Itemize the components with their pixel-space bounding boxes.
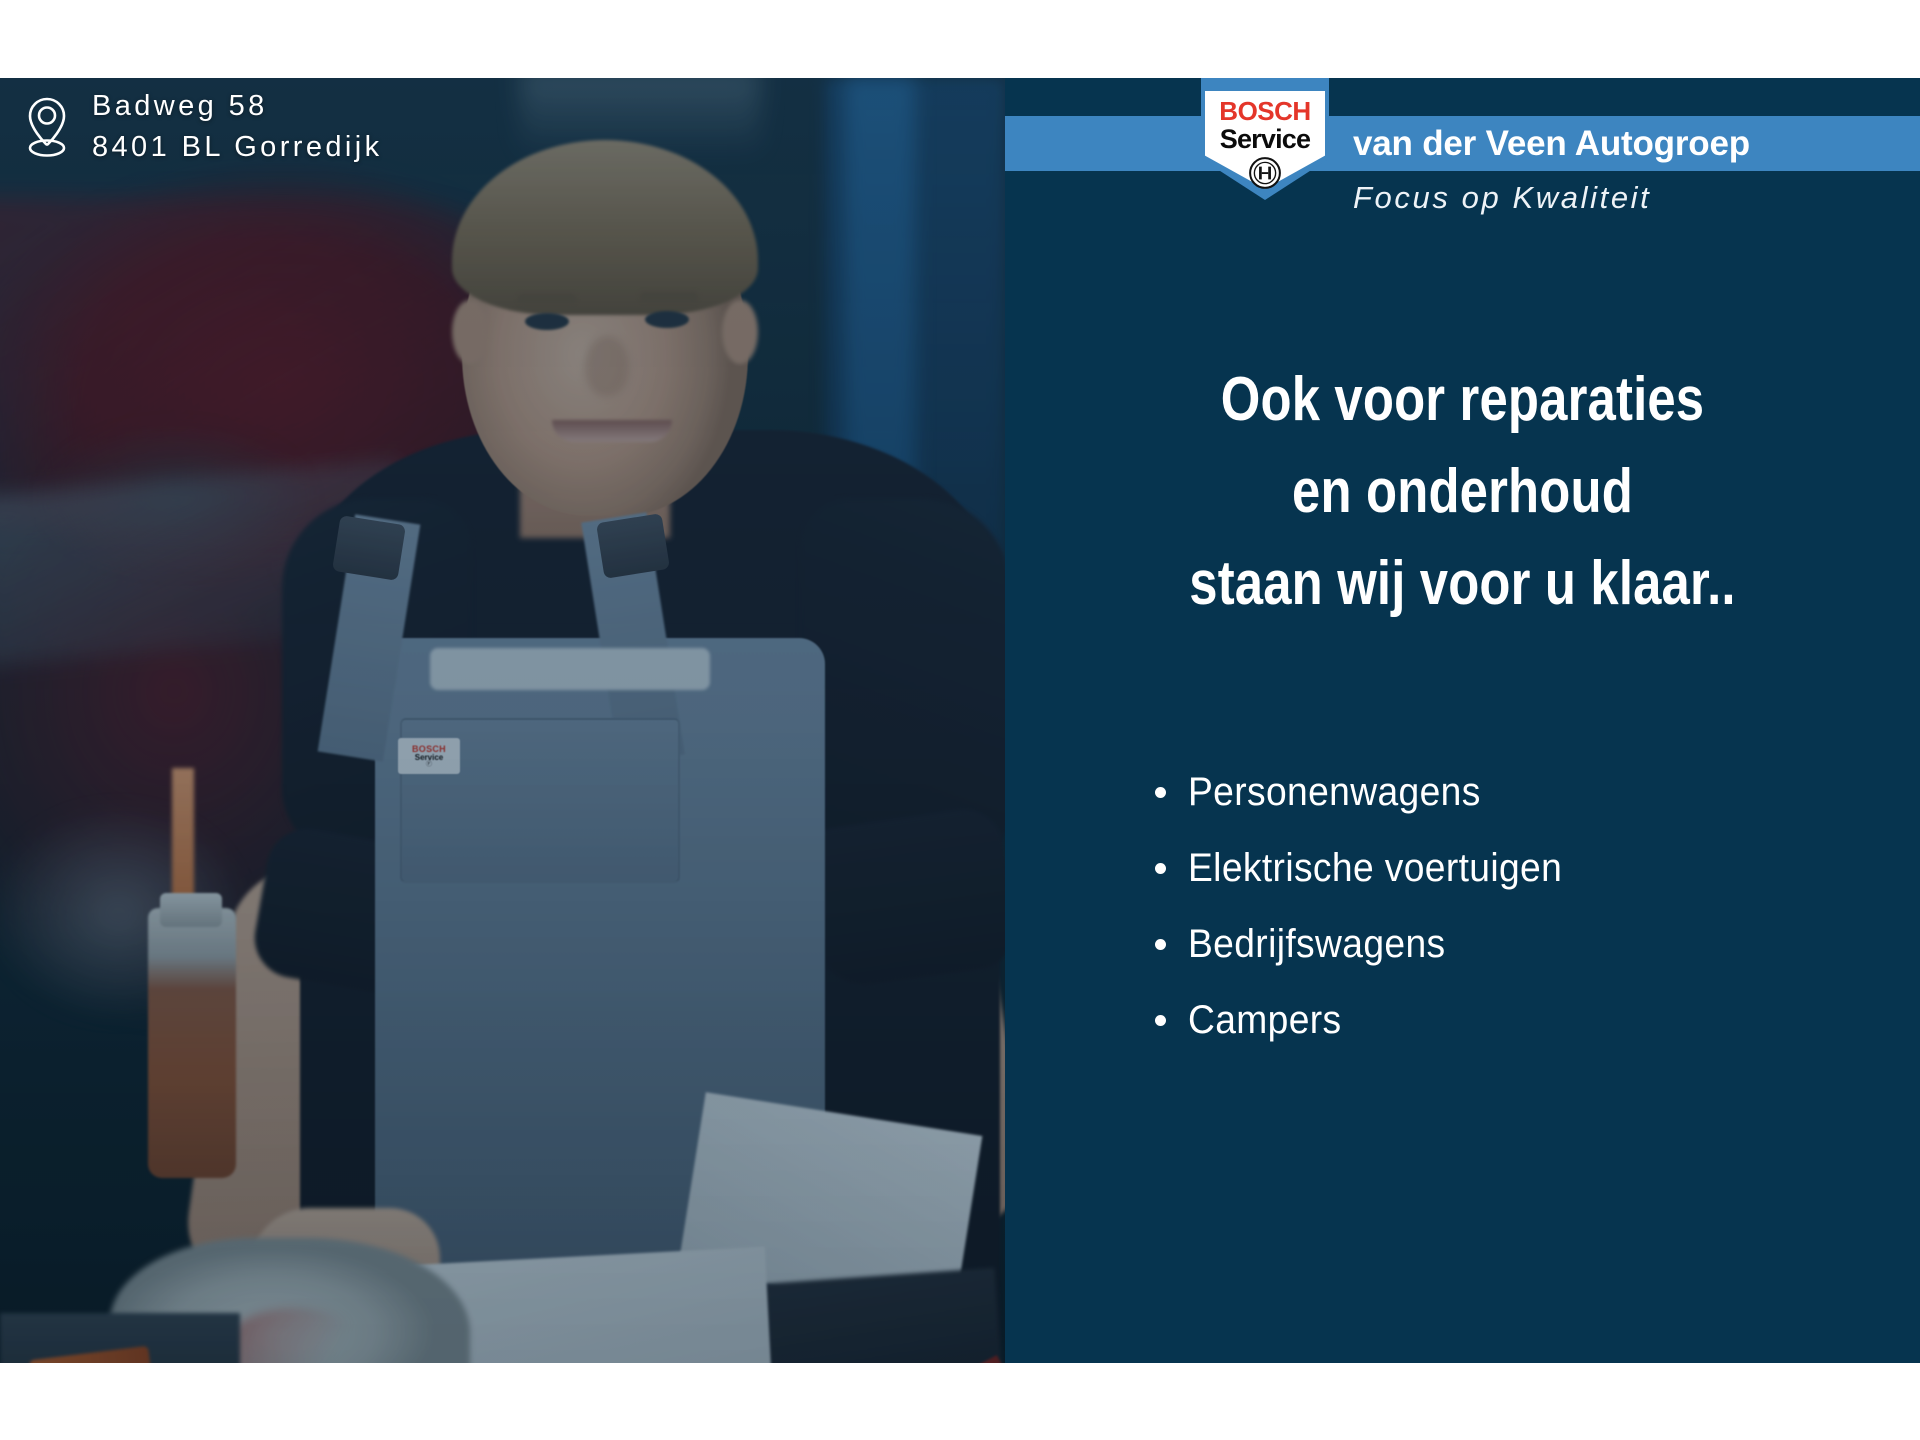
service-label: Bedrijfswagens xyxy=(1188,922,1445,967)
left-eye xyxy=(525,313,569,330)
oil-bottle xyxy=(148,908,236,1178)
nose xyxy=(585,336,629,396)
patch-emblem-text: Ⓕ xyxy=(426,762,432,768)
bosch-service-logo: BOSCH Service xyxy=(1201,78,1329,200)
address-line-1: Badweg 58 xyxy=(92,86,382,127)
advertisement-banner-page: BOSCH Service Ⓕ xyxy=(0,0,1920,1440)
list-item: Bedrijfswagens xyxy=(1155,906,1920,982)
list-item: Campers xyxy=(1155,982,1920,1058)
left-buckle xyxy=(332,515,406,581)
address-overlay: Badweg 58 8401 BL Gorredijk xyxy=(24,86,382,168)
banner: BOSCH Service Ⓕ xyxy=(0,78,1920,1363)
name-strip xyxy=(430,648,710,690)
badge-service-text: Service xyxy=(1220,125,1310,153)
badge-top-bar xyxy=(1201,78,1329,91)
left-ear xyxy=(452,300,488,364)
address-line-2: 8401 BL Gorredijk xyxy=(92,127,382,168)
right-sleeve xyxy=(800,805,1005,991)
company-tagline: Focus op Kwaliteit xyxy=(1353,178,1651,218)
left-eyebrow xyxy=(518,294,576,303)
service-label: Elektrische voertuigen xyxy=(1188,846,1562,891)
mouth xyxy=(552,420,672,442)
bottle-cap xyxy=(160,893,222,927)
bullet-dot-icon xyxy=(1155,939,1166,950)
bullet-dot-icon xyxy=(1155,787,1166,798)
right-ear xyxy=(722,300,758,364)
right-eye xyxy=(645,311,689,328)
bosch-service-patch: BOSCH Service Ⓕ xyxy=(398,738,460,774)
services-list: Personenwagens Elektrische voertuigen Be… xyxy=(1005,754,1920,1058)
headline-line-3: staan wij voor u klaar.. xyxy=(1087,538,1837,630)
headline-line-1: Ook voor reparaties xyxy=(1087,354,1837,446)
right-eyebrow xyxy=(640,292,698,301)
mechanic-photo: BOSCH Service Ⓕ xyxy=(0,78,1005,1363)
list-item: Elektrische voertuigen xyxy=(1155,830,1920,906)
info-panel: BOSCH Service van der Veen Autogroep Foc… xyxy=(1005,78,1920,1363)
bullet-dot-icon xyxy=(1155,1015,1166,1026)
headline-line-2: en onderhoud xyxy=(1087,446,1837,538)
address-lines: Badweg 58 8401 BL Gorredijk xyxy=(92,86,382,168)
service-label: Personenwagens xyxy=(1188,770,1481,815)
service-label: Campers xyxy=(1188,998,1342,1043)
bosch-armature-emblem xyxy=(1248,156,1282,190)
logo-lockup: BOSCH Service van der Veen Autogroep Foc… xyxy=(1005,78,1920,208)
badge-bosch-text: BOSCH xyxy=(1219,98,1310,124)
company-name: van der Veen Autogroep xyxy=(1353,122,1750,166)
patch-service-text: Service xyxy=(415,754,443,762)
location-pin-icon xyxy=(24,96,70,158)
headline: Ook voor reparaties en onderhoud staan w… xyxy=(1087,354,1837,630)
list-item: Personenwagens xyxy=(1155,754,1920,830)
right-buckle xyxy=(596,513,670,579)
bullet-dot-icon xyxy=(1155,863,1166,874)
